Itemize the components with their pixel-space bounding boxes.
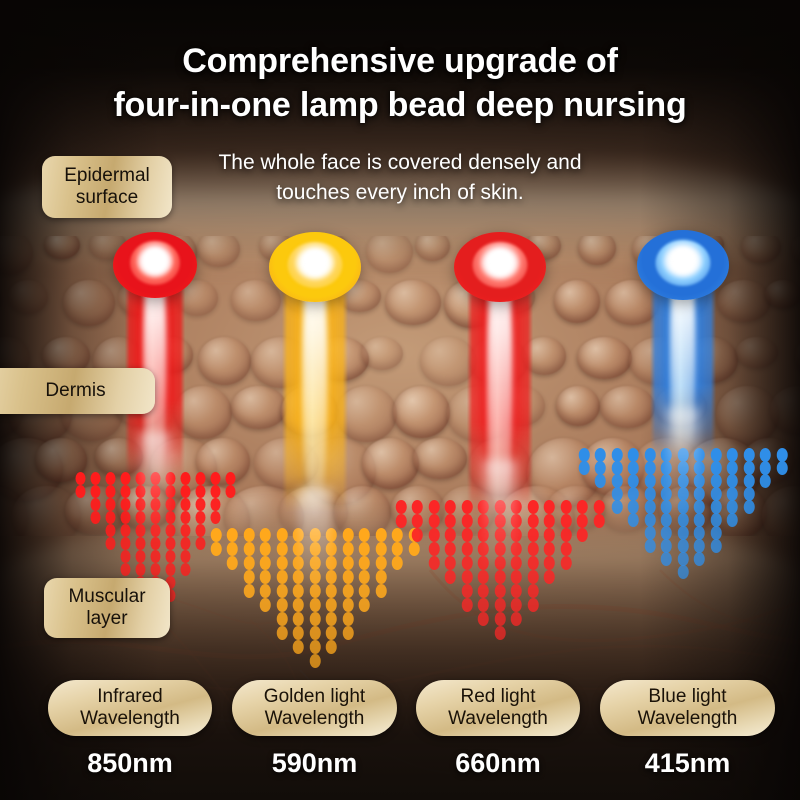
wavelength-value-text: 660nm	[455, 748, 541, 778]
beam-dot	[661, 526, 672, 540]
beam-dot	[628, 461, 639, 475]
layer-badge-epidermal-surface: Epidermal surface	[42, 156, 172, 218]
beam-dot	[694, 526, 705, 540]
beam-dot	[645, 513, 656, 527]
wavelength-pill-line2: Wavelength	[265, 708, 365, 730]
wavelength-pill-line1: Blue light	[648, 686, 726, 708]
beam-dot	[727, 448, 738, 462]
beam-dot	[694, 552, 705, 566]
wavelength-pill-line1: Red light	[461, 686, 536, 708]
wavelength-pill-line2: Wavelength	[448, 708, 548, 730]
beam-dot	[678, 526, 689, 540]
beam-dot	[645, 526, 656, 540]
beam-dot	[760, 461, 771, 475]
beam-dot	[645, 539, 656, 553]
beam-taper-glow-blue-light	[667, 408, 700, 518]
beam-dot	[628, 487, 639, 501]
beam-dot	[678, 539, 689, 553]
beam-dot	[744, 487, 755, 501]
beam-dot	[727, 487, 738, 501]
wavelength-value-red-light: 660nm	[416, 748, 580, 779]
wavelength-value-text: 850nm	[87, 748, 173, 778]
lamp-bead-hotspot-blue-light	[665, 247, 702, 276]
beam-dot	[711, 513, 722, 527]
wavelength-pill-line1: Golden light	[264, 686, 365, 708]
wavelength-value-infrared: 850nm	[48, 748, 212, 779]
beam-dot	[579, 448, 590, 462]
beam-dot	[628, 474, 639, 488]
beam-dot	[744, 448, 755, 462]
beam-dot	[744, 474, 755, 488]
beam-dot	[645, 461, 656, 475]
wavelength-pill-infrared: InfraredWavelength	[48, 680, 212, 736]
beam-dot	[760, 474, 771, 488]
beam-dot	[711, 526, 722, 540]
beam-dot	[727, 513, 738, 527]
beam-dot	[694, 539, 705, 553]
infographic-canvas: Comprehensive upgrade of four-in-one lam…	[0, 0, 800, 800]
layer-label-dermis: Dermis	[45, 380, 105, 402]
beam-dot	[645, 474, 656, 488]
beam-dot	[645, 448, 656, 462]
beam-dot	[711, 487, 722, 501]
beam-dot	[727, 461, 738, 475]
wavelength-value-golden-light: 590nm	[232, 748, 397, 779]
beam-dot	[628, 513, 639, 527]
beam-dot	[612, 500, 623, 514]
beam-dot	[678, 552, 689, 566]
beam-dot	[711, 461, 722, 475]
beam-dot	[612, 474, 623, 488]
wavelength-pill-line2: Wavelength	[638, 708, 738, 730]
layer-badge-dermis: Dermis	[0, 368, 155, 414]
beam-dot	[595, 474, 606, 488]
beam-dot	[628, 500, 639, 514]
beam-dot	[760, 448, 771, 462]
beam-dot	[628, 448, 639, 462]
page-title: Comprehensive upgrade of four-in-one lam…	[0, 40, 800, 127]
beam-dot	[645, 500, 656, 514]
beam-dot	[777, 461, 788, 475]
beam-dot	[711, 474, 722, 488]
beam-dot	[711, 539, 722, 553]
layer-label-muscular-line2: layer	[68, 608, 145, 630]
title-line-1: Comprehensive upgrade of	[182, 42, 617, 80]
wavelength-value-text: 590nm	[272, 748, 358, 778]
layer-label-epidermal-line1: Epidermal	[64, 165, 150, 187]
wavelength-pill-line2: Wavelength	[80, 708, 180, 730]
title-line-2: four-in-one lamp bead deep nursing	[0, 84, 800, 128]
beam-dot	[612, 487, 623, 501]
beam-dot	[777, 448, 788, 462]
layer-label-epidermal-line2: surface	[64, 187, 150, 209]
beam-dot	[595, 461, 606, 475]
wavelength-value-blue-light: 415nm	[600, 748, 775, 779]
wavelength-pill-line1: Infrared	[97, 686, 162, 708]
wavelength-pill-blue-light: Blue lightWavelength	[600, 680, 775, 736]
wavelength-pill-golden-light: Golden lightWavelength	[232, 680, 397, 736]
beam-dot	[711, 500, 722, 514]
layer-badge-muscular-layer: Muscular layer	[44, 578, 170, 638]
beam-dot	[744, 461, 755, 475]
subtitle-line-1: The whole face is covered densely and	[218, 151, 581, 174]
beam-dot	[579, 461, 590, 475]
wavelength-pill-red-light: Red lightWavelength	[416, 680, 580, 736]
beam-dot	[612, 461, 623, 475]
beam-dot	[661, 552, 672, 566]
beam-dot	[661, 539, 672, 553]
beam-dot	[678, 565, 689, 579]
beam-dot	[744, 500, 755, 514]
beam-dot	[645, 487, 656, 501]
beam-dot	[595, 448, 606, 462]
beam-dot	[727, 474, 738, 488]
layer-label-muscular-line1: Muscular	[68, 586, 145, 608]
beam-dot	[711, 448, 722, 462]
wavelength-value-text: 415nm	[645, 748, 731, 778]
beam-dot	[727, 500, 738, 514]
beam-dot	[612, 448, 623, 462]
